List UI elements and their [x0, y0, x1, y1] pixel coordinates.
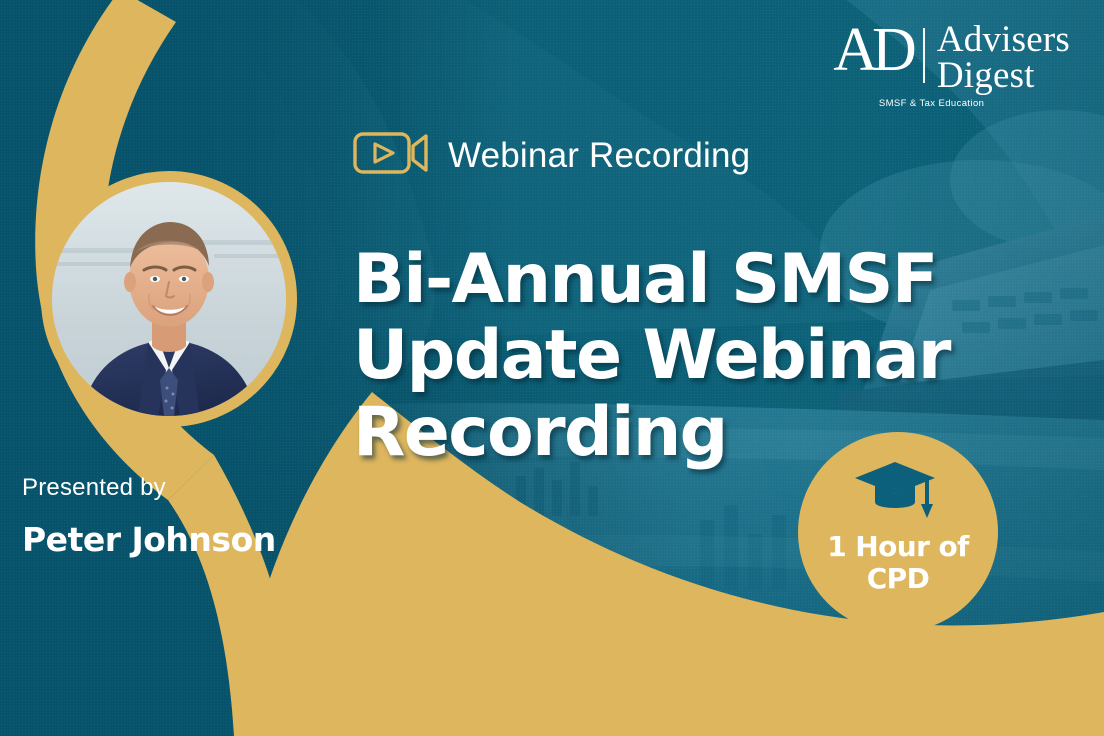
advisers-digest-logo: AD Advisers Digest SMSF & Tax Education	[833, 22, 1070, 93]
cpd-badge: 1 Hour of CPD	[798, 432, 998, 632]
cpd-line-1: 1 Hour of	[827, 531, 968, 563]
presenter-name: Peter Johnson	[22, 520, 276, 559]
presenter-headshot-avatar	[41, 171, 297, 427]
logo-wordmark: Advisers Digest SMSF & Tax Education	[937, 22, 1070, 93]
page-title: Bi-Annual SMSF Update Webinar Recording	[353, 242, 933, 472]
logo-line-digest: Digest	[937, 58, 1070, 94]
logo-tagline: SMSF & Tax Education	[879, 98, 985, 109]
title-line-2: Update Webinar	[353, 318, 933, 395]
cpd-line-2: CPD	[827, 563, 968, 595]
graduation-cap-icon	[855, 458, 941, 525]
logo-monogram: AD	[833, 22, 923, 79]
title-line-1: Bi-Annual SMSF	[353, 242, 933, 319]
video-camera-icon	[353, 130, 429, 181]
presented-by-label: Presented by	[22, 474, 166, 502]
webinar-promo-banner: AD Advisers Digest SMSF & Tax Education …	[0, 0, 1104, 736]
logo-divider	[923, 28, 925, 83]
eyebrow-label: Webinar Recording	[448, 136, 750, 176]
logo-line-advisers: Advisers	[937, 22, 1070, 58]
webinar-recording-eyebrow: Webinar Recording	[353, 130, 750, 181]
cpd-badge-text: 1 Hour of CPD	[827, 531, 968, 596]
